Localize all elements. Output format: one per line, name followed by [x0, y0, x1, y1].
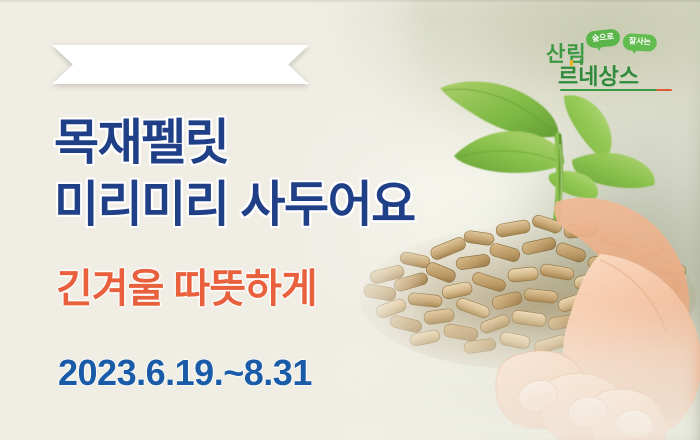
sanlim-renaissance-logo: 숲으로 잘사는 산림 르네상스: [544, 30, 684, 86]
date-end-month: 8: [244, 352, 264, 393]
headline: 목재펠릿 미리미리 사두어요: [54, 113, 415, 236]
date-sep-1: .: [136, 352, 146, 393]
promo-banner: 목재펠릿 하절기 할인 판매 목재펠릿 미리미리 사두어요 긴겨울 따뜻하게 2…: [0, 0, 700, 440]
logo-tick-green: [580, 59, 583, 65]
date-start-month: 6: [146, 352, 166, 393]
subline: 긴겨울 따뜻하게: [56, 256, 317, 314]
logo-badge-forest: 숲으로: [585, 28, 621, 48]
date-sep-2: .: [165, 352, 175, 393]
logo-wordmark: 산림 르네상스: [544, 44, 684, 88]
logo-line-1: 산림: [544, 44, 684, 65]
date-start-day: 19: [175, 352, 214, 393]
headline-line-2: 미리미리 사두어요: [54, 175, 415, 237]
promo-ribbon: 목재펠릿 하절기 할인 판매: [52, 45, 309, 84]
headline-line-1: 목재펠릿: [54, 113, 415, 175]
logo-line-2-text: 르네상스: [558, 64, 639, 89]
promotion-dateline: 2023.6.19.~8.31: [58, 352, 312, 394]
promo-ribbon-label: 목재펠릿 하절기 할인 판매: [87, 52, 276, 77]
logo-badge-prosper: 잘사는: [622, 33, 657, 52]
date-year: 2023: [58, 352, 136, 393]
logo-tick-yellow: [570, 60, 573, 66]
date-sep-3: .: [214, 352, 224, 393]
date-sep-4: .: [263, 352, 273, 393]
promo-ribbon-shape: 목재펠릿 하절기 할인 판매: [52, 45, 309, 84]
logo-underline: [560, 89, 672, 91]
logo-line-2: 르네상스: [544, 66, 684, 88]
date-range-tilde: ~: [223, 352, 244, 393]
date-end-day: 31: [273, 352, 312, 393]
logo-badge-group: 숲으로 잘사는: [586, 30, 657, 47]
